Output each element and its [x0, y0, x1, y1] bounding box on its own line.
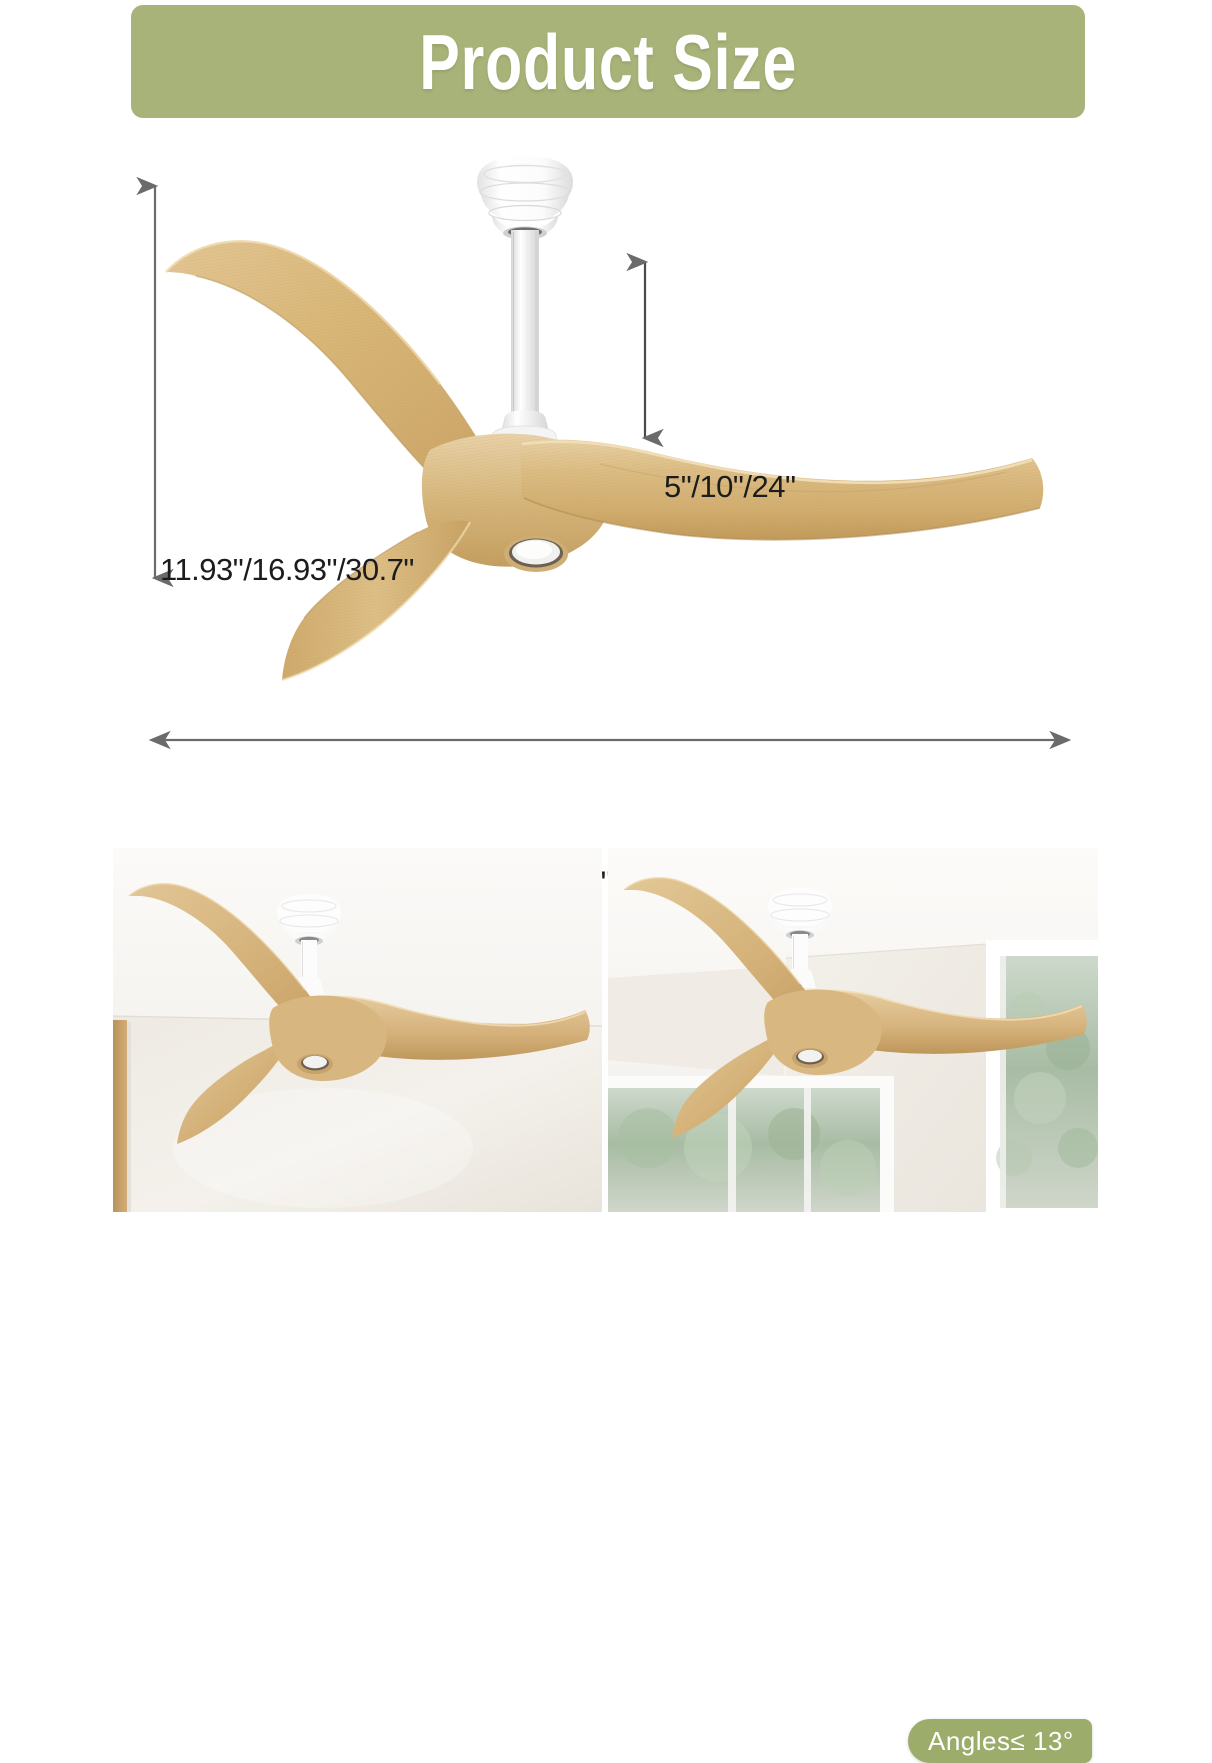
- photo-right-window-left: [608, 1076, 894, 1212]
- room-photo-white-wall: [113, 848, 602, 1212]
- ceiling-canopy: [477, 156, 573, 240]
- room-photo-window-view: [608, 848, 1098, 1212]
- photo-right-window-right: [986, 940, 1098, 1212]
- angle-badge: Angles≤ 13°: [908, 1719, 1092, 1763]
- dimension-label-downrod: 5"/10"/24": [664, 469, 795, 505]
- fan-blade-lower-left: [282, 520, 470, 680]
- room-photo-window-view-svg: [608, 848, 1098, 1212]
- downrod: [498, 230, 552, 442]
- ceiling-fan-dimension-diagram: 11.93"/16.93"/30.7" 5"/10"/24" 52": [0, 120, 1212, 820]
- angle-badge-label: Angles≤ 13°: [928, 1726, 1074, 1757]
- room-photo-white-wall-svg: [113, 848, 602, 1212]
- fan-diagram-svg: [0, 120, 1212, 820]
- lifestyle-photo-row: Angles≤ 13°: [0, 848, 1212, 1212]
- product-size-banner: Product Size: [131, 5, 1085, 118]
- dimension-label-height: 11.93"/16.93"/30.7": [160, 552, 414, 588]
- page-title: Product Size: [419, 23, 797, 101]
